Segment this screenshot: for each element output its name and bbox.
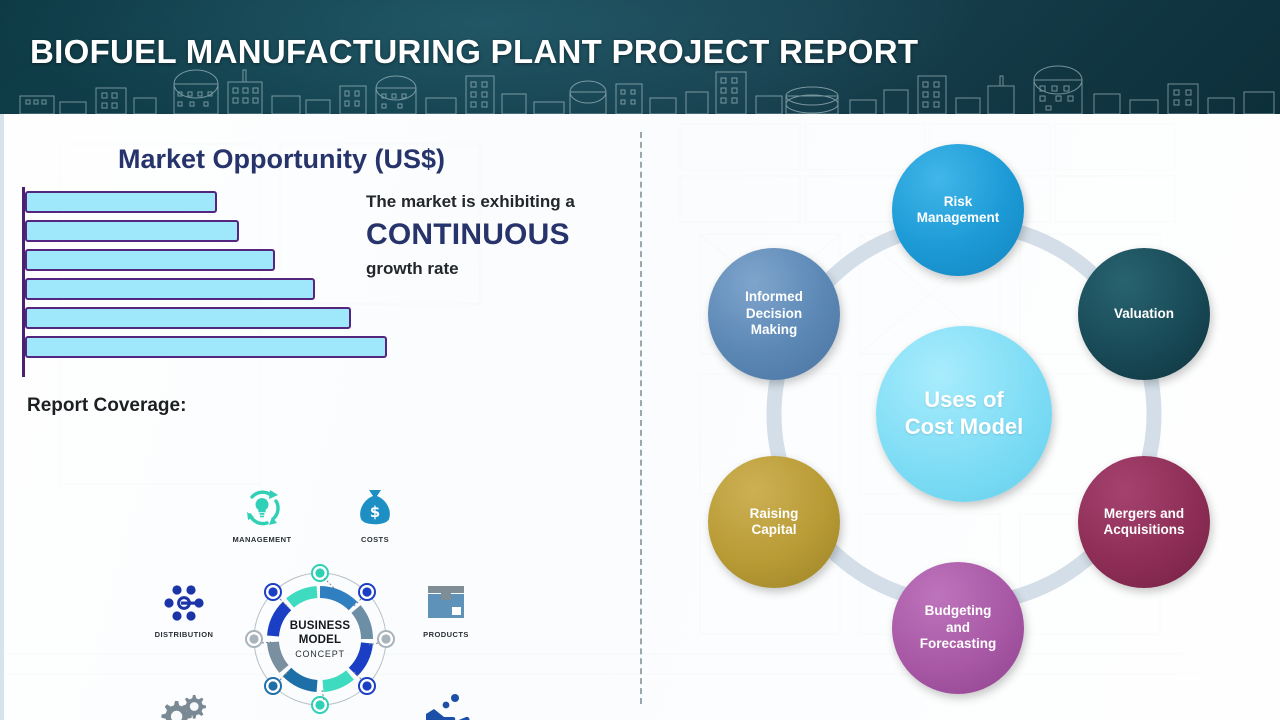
business-model-ring: [245, 564, 395, 714]
coverage-item-revenue: REVENUE: [391, 689, 501, 720]
bar-row: [25, 191, 217, 213]
node-label: InformedDecisionMaking: [745, 289, 803, 338]
svg-text:$: $: [370, 503, 380, 521]
panel-divider: [640, 132, 642, 704]
coverage-item-services: SERVICES: [129, 689, 239, 720]
node-label: RaisingCapital: [750, 506, 799, 539]
coverage-item-costs: $ COSTS: [320, 484, 430, 544]
growth-note: The market is exhibiting a CONTINUOUS gr…: [366, 190, 632, 282]
bar-row: [25, 220, 239, 242]
package-box-icon: [391, 579, 501, 627]
node-budgeting-forecasting[interactable]: BudgetingandForecasting: [892, 562, 1024, 694]
recycle-lightbulb-icon: [207, 484, 317, 532]
gears-icon: [129, 689, 239, 720]
page-title: BIOFUEL MANUFACTURING PLANT PROJECT REPO…: [30, 33, 918, 71]
market-opportunity-title: Market Opportunity (US$): [118, 144, 445, 175]
bar-row: [25, 336, 387, 358]
coverage-label-text: COSTS: [320, 535, 430, 544]
market-opportunity-bar-chart: [22, 187, 402, 377]
growth-note-line1: The market is exhibiting a: [366, 190, 632, 214]
node-raising-capital[interactable]: RaisingCapital: [708, 456, 840, 588]
node-valuation[interactable]: Valuation: [1078, 248, 1210, 380]
growth-note-line2: CONTINUOUS: [366, 214, 632, 256]
node-label: Valuation: [1114, 306, 1174, 322]
node-label: RiskManagement: [917, 194, 1000, 227]
node-mergers-acquisitions[interactable]: Mergers andAcquisitions: [1078, 456, 1210, 588]
bar-row: [25, 249, 275, 271]
bar-row: [25, 307, 351, 329]
center-node-label: Uses of Cost Model: [905, 387, 1024, 441]
uses-of-cost-model-diagram: RiskManagement Valuation Mergers andAcqu…: [660, 124, 1280, 704]
bar-row: [25, 278, 315, 300]
growth-note-line3: growth rate: [366, 256, 632, 282]
page-header: BIOFUEL MANUFACTURING PLANT PROJECT REPO…: [0, 0, 1280, 114]
node-informed-decision-making[interactable]: InformedDecisionMaking: [708, 248, 840, 380]
slide-body: Market Opportunity (US$) The market is e…: [0, 114, 1280, 720]
coverage-label-text: PRODUCTS: [391, 630, 501, 639]
center-line1: Uses of: [924, 387, 1003, 412]
coverage-label-text: DISTRIBUTION: [129, 630, 239, 639]
node-risk-management[interactable]: RiskManagement: [892, 144, 1024, 276]
network-nodes-icon: [129, 579, 239, 627]
node-label: Mergers andAcquisitions: [1103, 506, 1184, 539]
hand-coins-icon: [391, 689, 501, 720]
coverage-item-management: MANAGEMENT: [207, 484, 317, 544]
node-label: BudgetingandForecasting: [920, 603, 997, 652]
left-border-accent: [0, 114, 4, 720]
coverage-item-products: PRODUCTS: [391, 579, 501, 639]
report-coverage-cluster: BUSINESS MODEL CONCEPT MANAGEMENT: [130, 369, 510, 719]
money-bag-icon: $: [320, 484, 430, 532]
center-line2: Cost Model: [905, 414, 1024, 439]
coverage-item-distribution: DISTRIBUTION: [129, 579, 239, 639]
coverage-label-text: MANAGEMENT: [207, 535, 317, 544]
node-uses-of-cost-model: Uses of Cost Model: [876, 326, 1052, 502]
